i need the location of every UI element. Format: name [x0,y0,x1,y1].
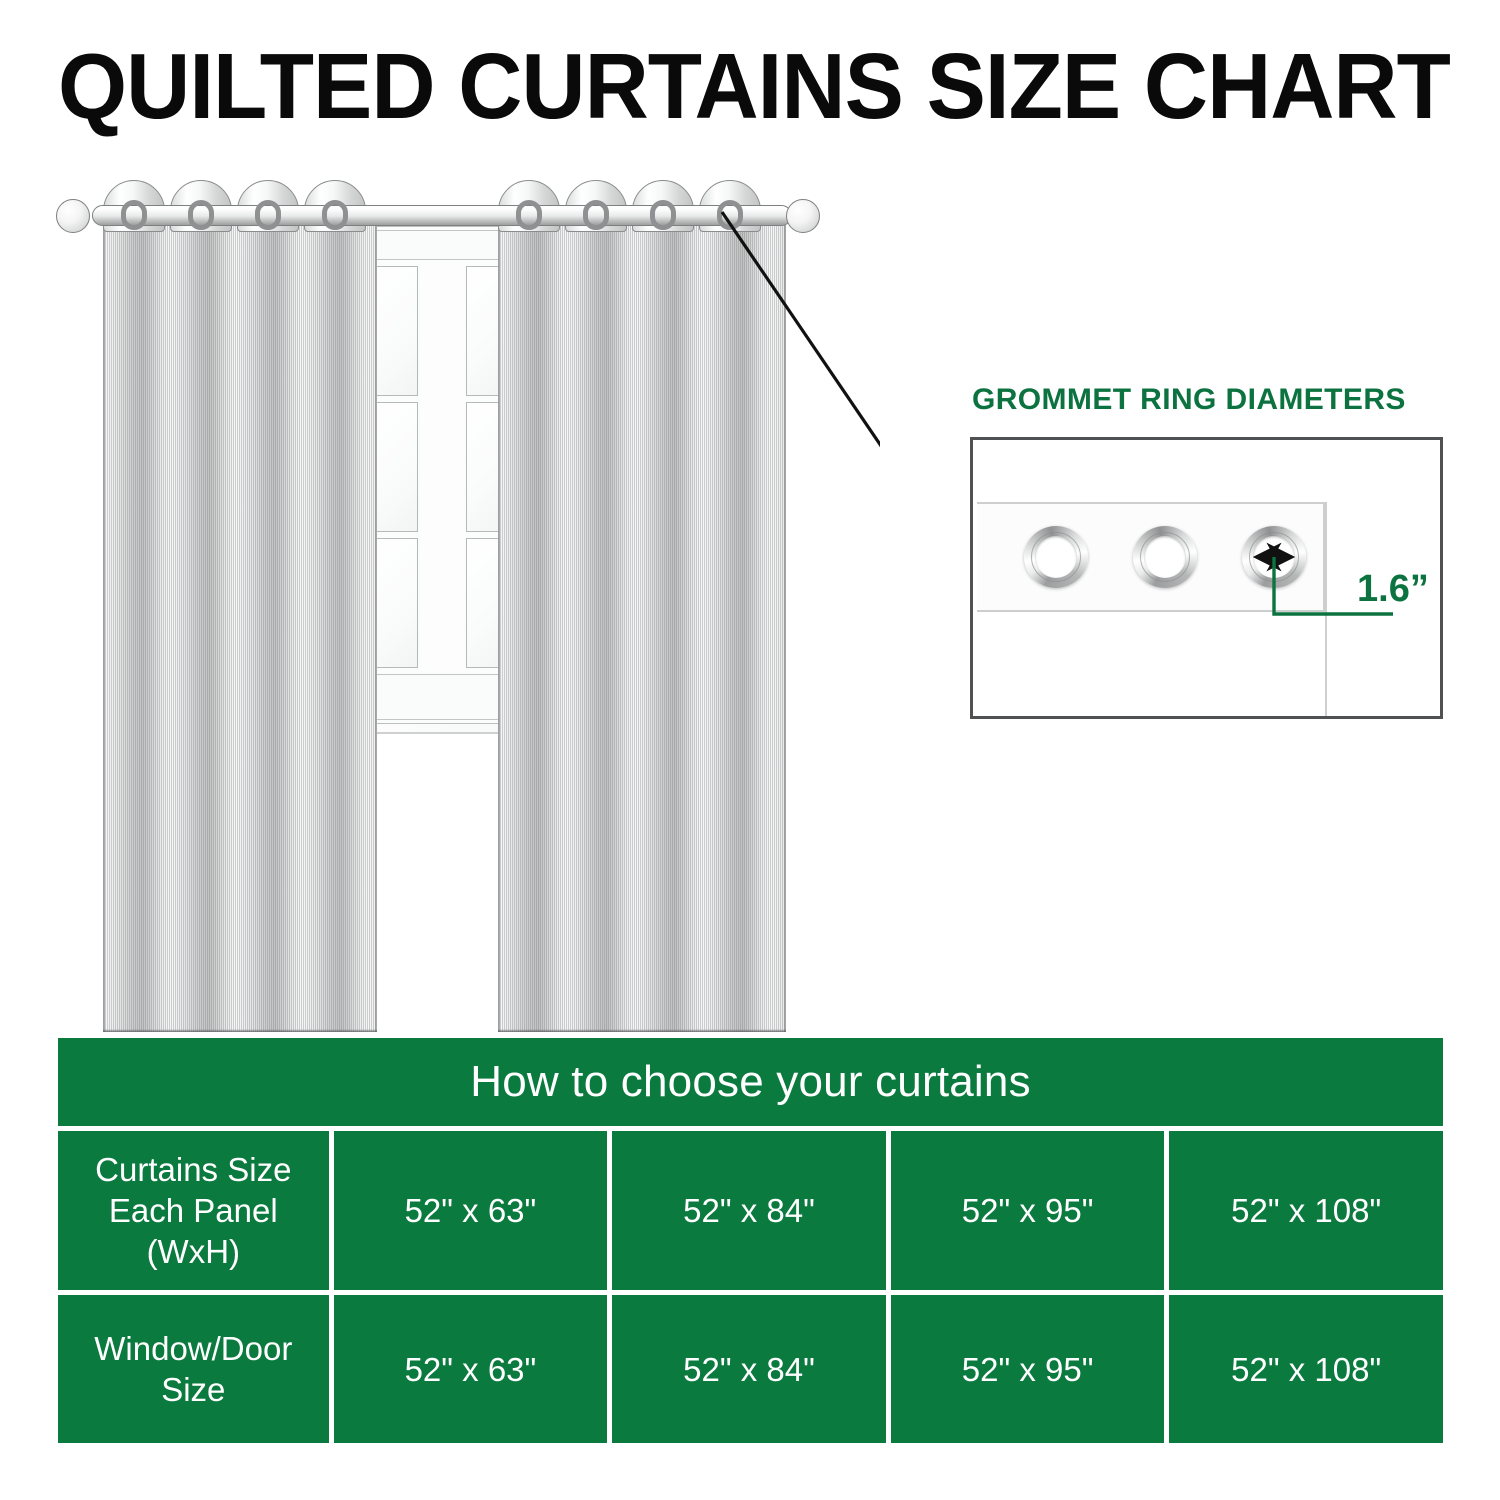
row-label-line: Each Panel [95,1190,291,1231]
window-mullion [421,263,463,399]
table-cell: 52" x 108" [1169,1131,1443,1290]
left-panel-edge [375,212,377,1032]
page-title: QUILTED CURTAINS SIZE CHART [58,36,1395,136]
left-curtain-panel [103,212,377,1032]
window-bottom-rail [374,674,510,720]
size-table: How to choose your curtains Curtains Siz… [58,1038,1443,1443]
left-panel-fabric [103,212,377,1032]
window-pane [374,266,418,396]
rod-finial-right-icon [786,199,820,233]
grommet-ring-icon [322,200,348,230]
rod-finial-left-icon [56,199,90,233]
table-cell: 52" x 95" [891,1131,1165,1290]
grommet-ring-icon [121,200,147,230]
window-pane [374,402,418,532]
right-panel-fabric [498,212,786,1032]
right-curtain-panel [498,212,786,1032]
table-row: Window/Door Size 52" x 63" 52" x 84" 52"… [58,1295,1443,1443]
left-panel-edge [103,212,105,1032]
window-top-rail [374,230,510,260]
table-header: How to choose your curtains [58,1038,1443,1126]
window-mullion [421,535,463,671]
grommet-ring-icon [717,200,743,230]
curtain-illustration [0,150,880,1030]
window-mullion [421,399,463,535]
grommet-ring-icon [188,200,214,230]
table-cell: 52" x 108" [1169,1295,1443,1443]
table-cell: 52" x 63" [334,1295,608,1443]
row-label-curtains-size: Curtains Size Each Panel (WxH) [58,1131,329,1290]
grommet-ring-icon [516,200,542,230]
table-cell: 52" x 95" [891,1295,1165,1443]
grommet-ring-icon [583,200,609,230]
row-label-line: Size [94,1369,292,1410]
table-row: Curtains Size Each Panel (WxH) 52" x 63"… [58,1131,1443,1290]
window-sash-grid [370,226,514,724]
table-cell: 52" x 63" [334,1131,608,1290]
size-chart-page: QUILTED CURTAINS SIZE CHART [0,0,1500,1500]
left-panel-hem [103,1029,377,1032]
grommet-ring-icon [255,200,281,230]
row-label-window-door-size: Window/Door Size [58,1295,329,1443]
row-label-line: Window/Door [94,1328,292,1369]
grommet-ring-icon [650,200,676,230]
row-label-line: Curtains Size [95,1149,291,1190]
window-pane [374,538,418,668]
right-panel-hem [498,1029,786,1032]
grommet-diameter-label: 1.6” [1357,568,1429,611]
right-panel-edge [498,212,500,1032]
grommet-detail-heading: GROMMET RING DIAMETERS [972,383,1406,417]
table-cell: 52" x 84" [612,1295,886,1443]
table-cell: 52" x 84" [612,1131,886,1290]
right-panel-edge [784,212,786,1032]
row-label-line: (WxH) [95,1231,291,1272]
